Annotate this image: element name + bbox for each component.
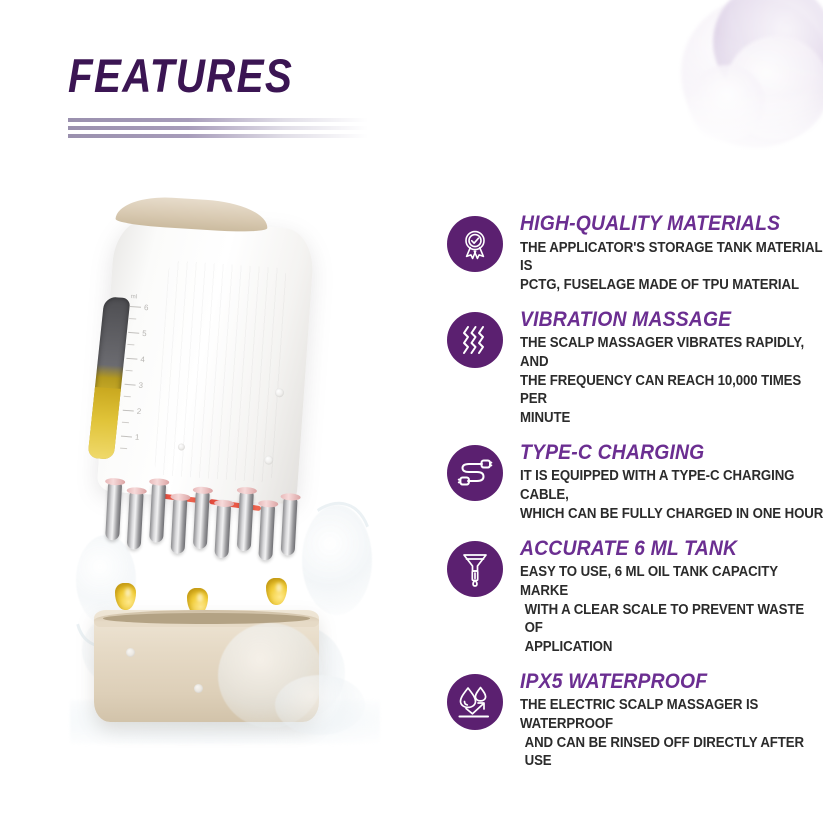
- feature-body: IT IS EQUIPPED WITH A TYPE-C CHARGING CA…: [520, 467, 823, 523]
- feature-title: ACCURATE 6 ML TANK: [520, 537, 817, 560]
- feature-item-vibration-massage: VIBRATION MASSAGE THE SCALP MASSAGER VIB…: [447, 308, 813, 428]
- feature-body: THE ELECTRIC SCALP MASSAGER IS WATERPROO…: [520, 696, 823, 771]
- feature-body: EASY TO USE, 6 ML OIL TANK CAPACITY MARK…: [520, 563, 823, 657]
- feature-title: IPX5 WATERPROOF: [520, 670, 817, 693]
- feature-item-accurate-6ml-tank: ACCURATE 6 ML TANK EASY TO USE, 6 ML OIL…: [447, 537, 813, 657]
- feature-title: VIBRATION MASSAGE: [520, 308, 817, 331]
- vibration-waves-icon: [447, 312, 503, 368]
- oil-droplet: [266, 578, 287, 605]
- page-title: FEATURES: [68, 48, 293, 103]
- feature-body: THE APPLICATOR'S STORAGE TANK MATERIAL I…: [520, 239, 823, 295]
- waterproof-droplets-icon: [447, 674, 503, 730]
- feature-body: THE SCALP MASSAGER VIBRATES RAPIDLY, AND…: [520, 334, 823, 428]
- feature-page: FEATURES ml 6 5 4: [0, 0, 823, 823]
- scale-label: 4: [140, 355, 145, 364]
- feature-item-high-quality-materials: HIGH-QUALITY MATERIALS THE APPLICATOR'S …: [447, 212, 813, 295]
- applicator-pins: [96, 477, 315, 573]
- funnel-drop-icon: [447, 541, 503, 597]
- scale-label: 1: [135, 433, 140, 442]
- scale-label: 3: [138, 381, 143, 390]
- feature-title: HIGH-QUALITY MATERIALS: [520, 212, 817, 235]
- feature-title: TYPE-C CHARGING: [520, 441, 817, 464]
- feature-item-ipx5-waterproof: IPX5 WATERPROOF THE ELECTRIC SCALP MASSA…: [447, 670, 813, 771]
- scale-label: 2: [136, 407, 141, 416]
- usb-cable-icon: [447, 445, 503, 501]
- scale-label: 5: [142, 329, 147, 338]
- product-image: ml 6 5 4 3 2 1: [70, 205, 420, 765]
- decorative-swirl-graphic: [651, 0, 823, 205]
- features-list: HIGH-QUALITY MATERIALS THE APPLICATOR'S …: [447, 212, 813, 784]
- scale-label: 6: [144, 303, 149, 312]
- feature-item-type-c-charging: TYPE-C CHARGING IT IS EQUIPPED WITH A TY…: [447, 441, 813, 524]
- title-underline-rules: [68, 118, 368, 142]
- award-badge-icon: [447, 216, 503, 272]
